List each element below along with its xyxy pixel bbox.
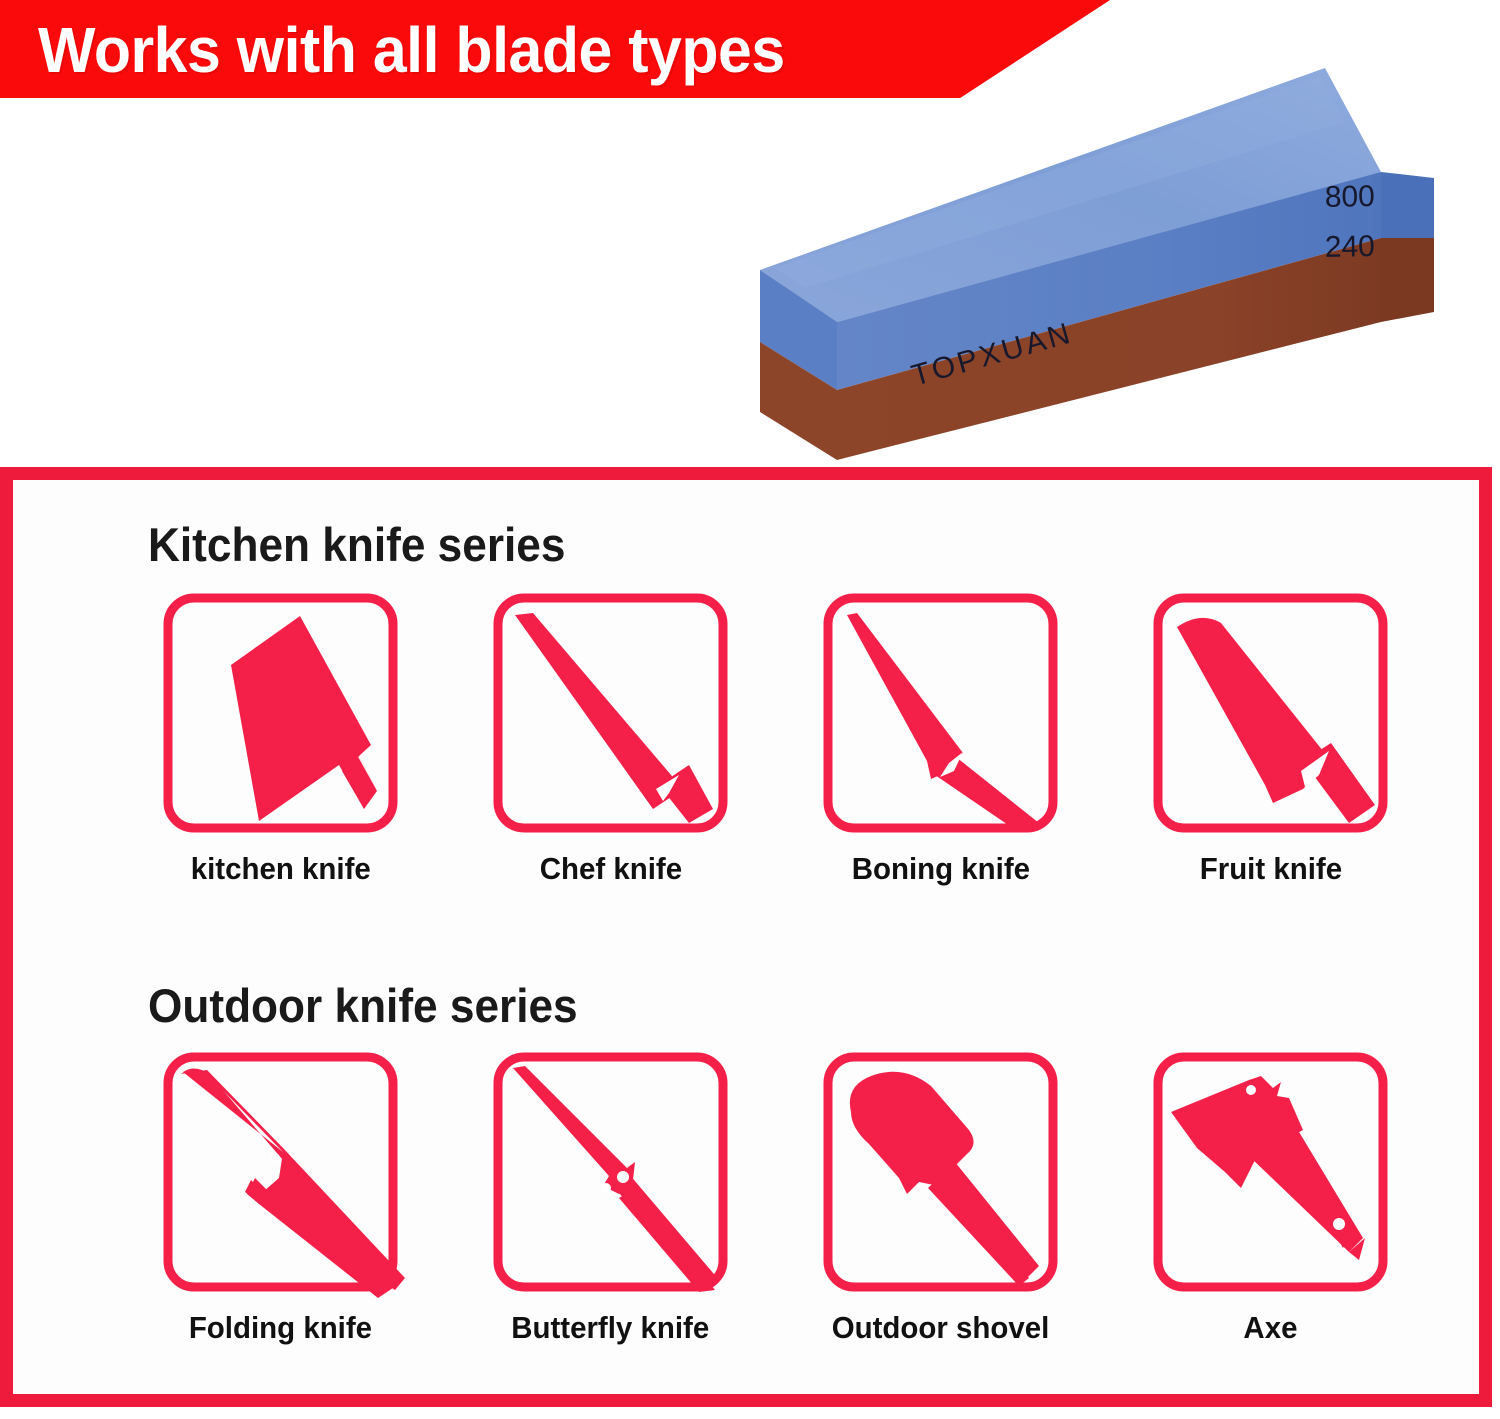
blade-tile-butterfly-knife[interactable]: Butterfly knife [483, 1052, 738, 1372]
shovel-icon [823, 1052, 1058, 1292]
blade-types-card: Kitchen knife series kitchen knife [0, 467, 1492, 1407]
kitchen-series-heading: Kitchen knife series [148, 517, 565, 572]
blade-tile-fruit-knife[interactable]: Fruit knife [1143, 593, 1398, 913]
outdoor-series-heading: Outdoor knife series [148, 978, 578, 1033]
whetstone-product-image: 800 240 TOPXUAN [745, 60, 1465, 460]
blade-tile-folding-knife[interactable]: Folding knife [153, 1052, 408, 1372]
butterfly-knife-icon [493, 1052, 728, 1292]
blade-tile-label: Boning knife [851, 851, 1029, 887]
blade-tile-kitchen-knife[interactable]: kitchen knife [153, 593, 408, 913]
fruit-knife-icon [1153, 593, 1388, 833]
axe-icon [1153, 1052, 1388, 1292]
outdoor-knife-row: Folding knife Butterfly knife [153, 1052, 1443, 1372]
blade-tile-outdoor-shovel[interactable]: Outdoor shovel [813, 1052, 1068, 1372]
blade-tile-chef-knife[interactable]: Chef knife [483, 593, 738, 913]
folding-knife-icon [163, 1052, 398, 1292]
chef-knife-icon [493, 593, 728, 833]
blade-tile-label: Butterfly knife [511, 1310, 709, 1346]
blade-tile-label: Fruit knife [1199, 851, 1341, 887]
blade-tile-label: Chef knife [539, 851, 681, 887]
blade-tile-label: kitchen knife [190, 851, 370, 887]
kitchen-knife-row: kitchen knife Chef knife [153, 593, 1443, 913]
blade-tile-axe[interactable]: Axe [1143, 1052, 1398, 1372]
page-title: Works with all blade types [38, 4, 785, 96]
header-banner: Works with all blade types [0, 0, 1110, 98]
blade-tile-label: Outdoor shovel [832, 1310, 1050, 1346]
grit-800-label: 800 [1324, 180, 1375, 214]
blade-tile-label: Folding knife [189, 1310, 372, 1346]
blade-tile-boning-knife[interactable]: Boning knife [813, 593, 1068, 913]
boning-knife-icon [823, 593, 1058, 833]
cleaver-icon [163, 593, 398, 833]
grit-240-label: 240 [1324, 230, 1375, 264]
blade-tile-label: Axe [1243, 1310, 1297, 1346]
